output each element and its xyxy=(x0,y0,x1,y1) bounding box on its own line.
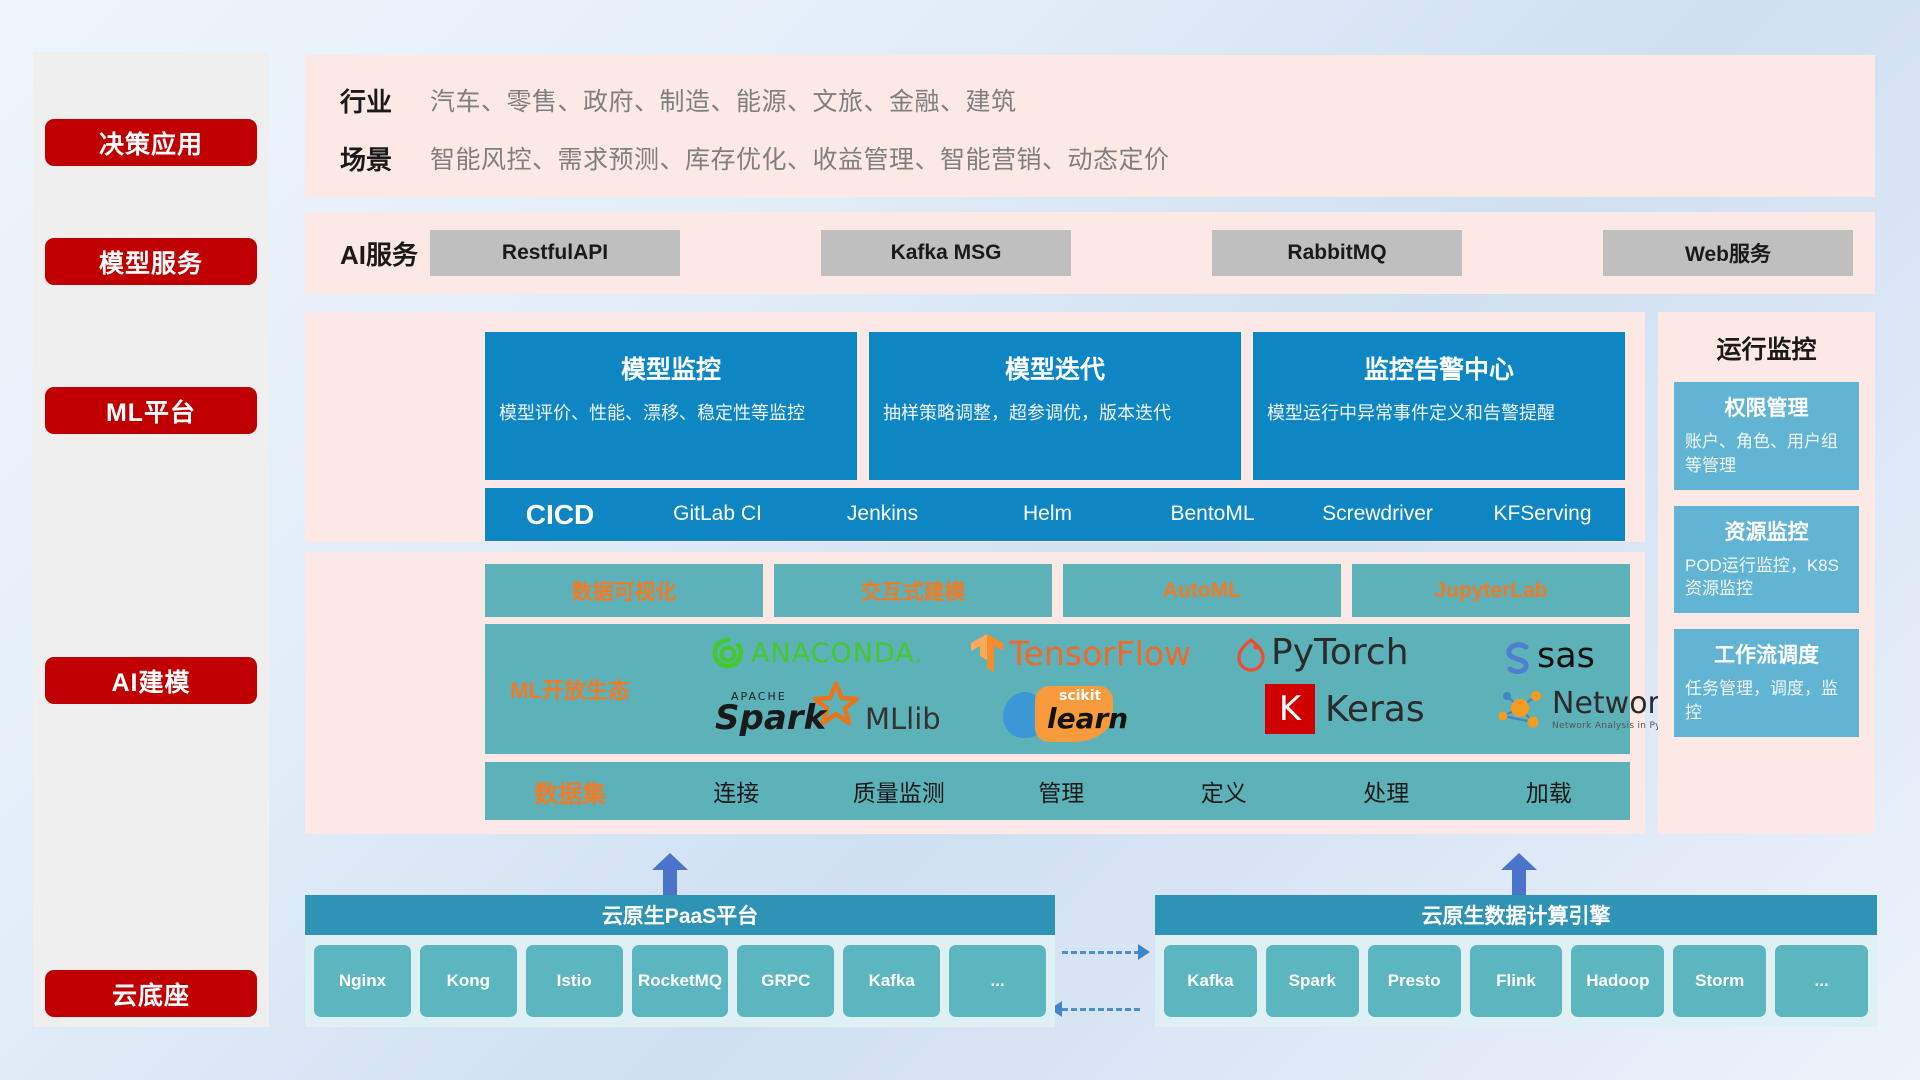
cloud-base-data-engine-title: 云原生数据计算引擎 xyxy=(1155,895,1877,935)
pytorch-logo: PyTorch xyxy=(1235,632,1409,673)
cloud-chip-rocketmq[interactable]: RocketMQ xyxy=(632,945,729,1017)
ai-service-label: AI服务 xyxy=(305,235,430,272)
runtime-monitor-panel: 运行监控 权限管理 账户、角色、用户组等管理 资源监控 POD运行监控，K8S资… xyxy=(1658,312,1875,834)
stack-layer-rail: 决策应用 模型服务 ML平台 AI建模 云底座 xyxy=(33,52,269,1027)
dataset-item-loading[interactable]: 加载 xyxy=(1468,774,1631,808)
rail-item-decision-app[interactable]: 决策应用 xyxy=(45,119,257,166)
scenario-row-industry: 行业 汽车、零售、政府、制造、能源、文旅、金融、建筑 xyxy=(305,75,1875,125)
monitor-card-desc: POD运行监控，K8S资源监控 xyxy=(1685,554,1848,602)
ai-service-items: RestfulAPI Kafka MSG RabbitMQ Web服务 xyxy=(430,230,1875,276)
tensorflow-logo: TensorFlow xyxy=(967,632,1191,674)
cloud-chip-kong[interactable]: Kong xyxy=(420,945,517,1017)
cloud-base-paas-group: 云原生PaaS平台 Nginx Kong Istio RocketMQ GRPC… xyxy=(305,895,1055,1027)
cloud-chip-more[interactable]: ... xyxy=(1775,945,1868,1017)
cloud-chip-nginx[interactable]: Nginx xyxy=(314,945,411,1017)
mlops-card-desc: 抽样策略调整，超参调优，版本迭代 xyxy=(883,400,1227,426)
cloud-chip-flink[interactable]: Flink xyxy=(1470,945,1563,1017)
scenario-key: 场景 xyxy=(305,140,430,177)
cicd-item-screwdriver[interactable]: Screwdriver xyxy=(1295,501,1460,527)
mlops-card-alert-center[interactable]: 监控告警中心 模型运行中异常事件定义和告警提醒 xyxy=(1253,332,1625,480)
anaconda-logo: ANACONDA. xyxy=(711,636,924,670)
spark-wordmark: Spark xyxy=(715,698,826,738)
monitor-card-desc: 任务管理，调度，监控 xyxy=(1685,677,1848,725)
cloud-chip-presto[interactable]: Presto xyxy=(1368,945,1461,1017)
ml-ecosystem-label: ML开放生态 xyxy=(485,673,655,705)
mlops-card-desc: 模型评价、性能、漂移、稳定性等监控 xyxy=(499,400,843,426)
mlops-card-model-iteration[interactable]: 模型迭代 抽样策略调整，超参调优，版本迭代 xyxy=(869,332,1241,480)
rail-item-label: 决策应用 xyxy=(99,125,203,161)
rail-item-cloud-base[interactable]: 云底座 xyxy=(45,970,257,1017)
mlops-card-desc: 模型运行中异常事件定义和告警提醒 xyxy=(1267,400,1611,426)
mlops-card-title: 模型迭代 xyxy=(883,350,1227,386)
mlops-card-title: 模型监控 xyxy=(499,350,843,386)
monitor-card-permission[interactable]: 权限管理 账户、角色、用户组等管理 xyxy=(1674,382,1859,490)
monitor-card-title: 权限管理 xyxy=(1685,392,1848,422)
arrow-shaft xyxy=(663,867,677,895)
cicd-item-helm[interactable]: Helm xyxy=(965,501,1130,527)
monitor-card-desc: 账户、角色、用户组等管理 xyxy=(1685,430,1848,478)
mlops-card-list: 模型监控 模型评价、性能、漂移、稳定性等监控 模型迭代 抽样策略调整，超参调优，… xyxy=(485,332,1625,480)
ml-lab-tool-jupyterlab[interactable]: JupyterLab xyxy=(1352,564,1630,617)
dataset-item-processing[interactable]: 处理 xyxy=(1305,774,1468,808)
cloud-chip-spark[interactable]: Spark xyxy=(1266,945,1359,1017)
scenario-row-usecase: 场景 智能风控、需求预测、库存优化、收益管理、智能营销、动态定价 xyxy=(305,133,1875,183)
pytorch-wordmark: PyTorch xyxy=(1271,632,1409,673)
dataset-bar: 数据集 连接 质量监测 管理 定义 处理 加载 xyxy=(485,762,1630,820)
anaconda-wordmark: ANACONDA. xyxy=(751,638,924,669)
dataset-item-quality-monitoring[interactable]: 质量监测 xyxy=(818,774,981,808)
monitor-card-title: 资源监控 xyxy=(1685,516,1848,546)
keras-mark-letter: K xyxy=(1279,689,1301,729)
keras-logo: K Keras xyxy=(1265,684,1425,734)
cloud-chip-istio[interactable]: Istio xyxy=(526,945,623,1017)
ai-service-chip-rabbitmq[interactable]: RabbitMQ xyxy=(1212,230,1462,276)
scenario-panel: 行业 汽车、零售、政府、制造、能源、文旅、金融、建筑 场景 智能风控、需求预测、… xyxy=(305,55,1875,197)
upward-arrow-paas xyxy=(652,853,688,895)
monitor-card-workflow[interactable]: 工作流调度 任务管理，调度，监控 xyxy=(1674,629,1859,737)
scenario-value: 智能风控、需求预测、库存优化、收益管理、智能营销、动态定价 xyxy=(430,140,1170,176)
mllib-wordmark: MLlib xyxy=(865,702,941,736)
cloud-chip-storm[interactable]: Storm xyxy=(1673,945,1766,1017)
keras-mark-icon: K xyxy=(1265,684,1315,734)
cloud-base-data-engine-items: Kafka Spark Presto Flink Hadoop Storm ..… xyxy=(1155,935,1877,1027)
monitor-card-resource[interactable]: 资源监控 POD运行监控，K8S资源监控 xyxy=(1674,506,1859,614)
rail-item-ai-modeling[interactable]: AI建模 xyxy=(45,657,257,704)
monitor-card-title: 工作流调度 xyxy=(1685,639,1848,669)
pytorch-flame-icon xyxy=(1235,634,1267,672)
rail-item-model-service[interactable]: 模型服务 xyxy=(45,238,257,285)
arrow-head xyxy=(652,853,688,870)
cicd-item-kfserving[interactable]: KFServing xyxy=(1460,501,1625,527)
upward-arrow-data-engine xyxy=(1501,853,1537,895)
runtime-monitor-title: 运行监控 xyxy=(1658,312,1875,366)
arrow-head xyxy=(1501,853,1537,870)
dataset-item-connect[interactable]: 连接 xyxy=(655,774,818,808)
scikit-learn-logo: scikit learn xyxy=(1003,686,1173,742)
cicd-bar: CICD GitLab CI Jenkins Helm BentoML Scre… xyxy=(485,488,1625,541)
ml-lab-tool-data-viz[interactable]: 数据可视化 xyxy=(485,564,763,617)
networkx-graph-icon xyxy=(1493,686,1547,734)
ml-ecosystem-band: ML开放生态 ANACONDA. APACHE Spark MLlib xyxy=(485,624,1630,754)
dataset-title: 数据集 xyxy=(485,774,655,809)
dashed-connector-right xyxy=(1062,951,1140,954)
anaconda-mark-icon xyxy=(711,636,745,670)
rail-item-label: AI建模 xyxy=(111,663,190,699)
dashed-arrow-head-right xyxy=(1138,944,1150,960)
cloud-chip-grpc[interactable]: GRPC xyxy=(737,945,834,1017)
scenario-value: 汽车、零售、政府、制造、能源、文旅、金融、建筑 xyxy=(430,82,1017,118)
ai-service-chip-kafka-msg[interactable]: Kafka MSG xyxy=(821,230,1071,276)
learn-text: learn xyxy=(1047,702,1128,735)
mlops-panel: MLOps 模型监控 模型评价、性能、漂移、稳定性等监控 模型迭代 抽样策略调整… xyxy=(305,312,1645,542)
cloud-base-data-engine-group: 云原生数据计算引擎 Kafka Spark Presto Flink Hadoo… xyxy=(1155,895,1877,1027)
dashed-connector-left xyxy=(1062,1008,1140,1011)
sas-mark-icon xyxy=(1500,638,1536,674)
tensorflow-mark-icon xyxy=(967,632,1007,674)
arrow-shaft xyxy=(1512,867,1526,895)
cicd-item-jenkins[interactable]: Jenkins xyxy=(800,501,965,527)
cloud-base-paas-title: 云原生PaaS平台 xyxy=(305,895,1055,935)
keras-wordmark: Keras xyxy=(1325,689,1425,730)
sas-wordmark: sas xyxy=(1537,636,1595,676)
cloud-chip-kafka[interactable]: Kafka xyxy=(1164,945,1257,1017)
ai-service-chip-web-service[interactable]: Web服务 xyxy=(1603,230,1853,276)
tensorflow-wordmark: TensorFlow xyxy=(1009,634,1191,673)
rail-item-label: ML平台 xyxy=(106,393,196,429)
dataset-item-management[interactable]: 管理 xyxy=(980,774,1143,808)
ml-lab-tool-list: 数据可视化 交互式建模 AutoML JupyterLab xyxy=(485,564,1630,617)
cloud-chip-hadoop[interactable]: Hadoop xyxy=(1571,945,1664,1017)
scenario-key: 行业 xyxy=(305,82,430,119)
cloud-base-paas-items: Nginx Kong Istio RocketMQ GRPC Kafka ... xyxy=(305,935,1055,1027)
dataset-item-definition[interactable]: 定义 xyxy=(1143,774,1306,808)
cicd-title: CICD xyxy=(485,499,635,531)
mlops-card-model-monitoring[interactable]: 模型监控 模型评价、性能、漂移、稳定性等监控 xyxy=(485,332,857,480)
mlops-card-title: 监控告警中心 xyxy=(1267,350,1611,386)
ml-lab-panel: 神州数码 ML LAB 数据可视化 交互式建模 AutoML JupyterLa… xyxy=(305,552,1645,834)
cicd-item-gitlab-ci[interactable]: GitLab CI xyxy=(635,501,800,527)
rail-item-label: 模型服务 xyxy=(99,244,203,280)
ml-lab-tool-automl[interactable]: AutoML xyxy=(1063,564,1341,617)
ml-ecosystem-logos: ANACONDA. APACHE Spark MLlib xyxy=(655,624,1630,754)
ml-lab-tool-interactive-modeling[interactable]: 交互式建模 xyxy=(774,564,1052,617)
rail-item-label: 云底座 xyxy=(112,976,190,1012)
ai-service-chip-restfulapi[interactable]: RestfulAPI xyxy=(430,230,680,276)
spark-mllib-logo: APACHE Spark MLlib xyxy=(715,686,867,744)
rail-item-ml-platform[interactable]: ML平台 xyxy=(45,387,257,434)
sas-logo: sas xyxy=(1500,636,1595,676)
cicd-item-bentoml[interactable]: BentoML xyxy=(1130,501,1295,527)
cloud-chip-more[interactable]: ... xyxy=(949,945,1046,1017)
cloud-chip-kafka[interactable]: Kafka xyxy=(843,945,940,1017)
ai-service-panel: AI服务 RestfulAPI Kafka MSG RabbitMQ Web服务 xyxy=(305,212,1875,294)
